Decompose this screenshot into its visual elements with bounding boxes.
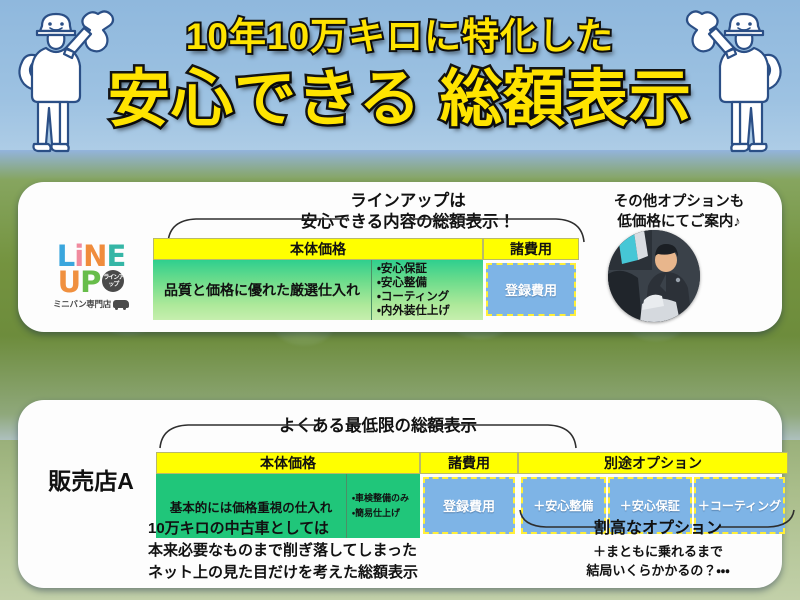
lineup-note-line-2: 低価格にてご案内♪	[574, 212, 784, 232]
lineup-main-body: 品質と価格に優れた厳選仕入れ ・安心保証 ・安心整備 ・コーティング ・内外装仕…	[153, 260, 483, 320]
option-footnote-line-2: 結局いくらかかるの？・・・	[538, 561, 778, 580]
lineup-main-header: 本体価格	[153, 238, 483, 260]
lineup-panel: LiNE UPラインアップ ミニバン専門店 ラインアップは 安心できる内容の総額…	[18, 182, 782, 332]
lineup-item: ・安心保証	[377, 262, 478, 276]
dealer-footnote: 10万キロの中古車としては 本来必要なものまで削ぎ落してしまった ネット上の見た…	[148, 518, 418, 584]
lineup-caption-line-1: ラインアップは	[208, 191, 608, 212]
logo-char-U: U	[58, 265, 81, 299]
lineup-item: ・内外装仕上げ	[377, 304, 478, 318]
logo-subtitle-text: ミニバン専門店	[53, 299, 111, 309]
option-footnote: ＋まともに乗れるまで 結局いくらかかるの？・・・	[538, 542, 778, 580]
dealer-fee-column: 諸費用 登録費用	[420, 452, 518, 538]
dealer-fee-cell: 登録費用	[423, 477, 515, 534]
minivan-icon	[113, 300, 129, 308]
dealer-option-header: 別途オプション	[518, 452, 788, 474]
lineup-fee-cell: 登録費用	[486, 263, 576, 316]
dealer-fee-body: 登録費用	[420, 474, 518, 538]
lineup-item: ・コーティング	[377, 290, 478, 304]
lineup-note-line-1: その他オプションも	[574, 192, 784, 212]
option-footnote-line-1: ＋まともに乗れるまで	[538, 542, 778, 561]
lineup-item: ・安心整備	[377, 276, 478, 290]
mechanic-photo	[608, 230, 700, 322]
lineup-main-items: ・安心保証 ・安心整備 ・コーティング ・内外装仕上げ	[371, 260, 483, 320]
option-caption: 割高なオプション	[538, 514, 778, 538]
logo-badge: ラインアップ	[102, 270, 124, 292]
header-headline-1: 10年10万キロに特化した	[0, 16, 800, 58]
header-headline-2: 安心できる 総額表示	[0, 64, 800, 136]
advertisement-canvas: 10年10万キロに特化した 安心できる 総額表示 LiNE UPラインアップ ミ…	[0, 0, 800, 600]
dealer-footnote-line-3: ネット上の見た目だけを考えた総額表示	[148, 562, 418, 584]
lineup-logo: LiNE UPラインアップ ミニバン専門店	[36, 242, 146, 309]
dealer-name-label: 販売店A	[32, 462, 150, 496]
dealer-panel: よくある最低限の総額表示 販売店A 本体価格 基本的には価格重視の仕入れ ・車検…	[18, 400, 782, 588]
logo-line-2: UPラインアップ	[36, 268, 146, 297]
logo-subtitle: ミニバン専門店	[36, 300, 146, 309]
lineup-note: その他オプションも 低価格にてご案内♪	[574, 192, 784, 232]
lineup-fee-header: 諸費用	[483, 238, 579, 260]
dealer-caption: よくある最低限の総額表示	[188, 412, 568, 436]
header-banner: 10年10万キロに特化した 安心できる 総額表示	[0, 0, 800, 160]
dealer-footnote-line-1: 10万キロの中古車としては	[148, 518, 418, 540]
dealer-footnote-line-2: 本来必要なものまで削ぎ落してしまった	[148, 540, 418, 562]
lineup-main-column: 本体価格 品質と価格に優れた厳選仕入れ ・安心保証 ・安心整備 ・コーティング …	[153, 238, 483, 320]
lineup-caption: ラインアップは 安心できる内容の総額表示！	[208, 191, 608, 233]
mechanic-photo-image	[608, 230, 700, 322]
lineup-fee-column: 諸費用 登録費用	[483, 238, 579, 320]
lineup-caption-line-2: 安心できる内容の総額表示！	[208, 212, 608, 233]
dealer-item: ・車検整備のみ	[352, 491, 415, 506]
logo-char-P: P	[80, 265, 100, 299]
dealer-main-header: 本体価格	[156, 452, 420, 474]
lineup-pricing-table: 本体価格 品質と価格に優れた厳選仕入れ ・安心保証 ・安心整備 ・コーティング …	[153, 238, 579, 320]
dealer-fee-header: 諸費用	[420, 452, 518, 474]
lineup-fee-body: 登録費用	[483, 260, 579, 320]
lineup-main-body-text: 品質と価格に優れた厳選仕入れ	[153, 260, 371, 320]
